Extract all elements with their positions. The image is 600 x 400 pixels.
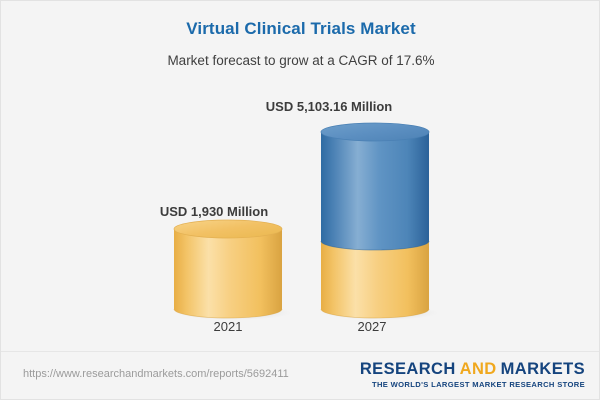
- report-url[interactable]: https://www.researchandmarkets.com/repor…: [23, 368, 289, 380]
- bar-cylinder-2027[interactable]: [315, 115, 439, 325]
- category-label-2021: 2021: [168, 319, 288, 334]
- logo-wordmark: RESEARCHANDMARKETS: [360, 360, 585, 378]
- logo-word-research: RESEARCH: [360, 360, 456, 378]
- plot-area: USD 1,930 Million USD 5,103.16 Million: [1, 1, 600, 353]
- research-and-markets-logo[interactable]: RESEARCHANDMARKETS THE WORLD'S LARGEST M…: [360, 360, 585, 389]
- bar-value-label-2027: USD 5,103.16 Million: [229, 99, 429, 114]
- footer: https://www.researchandmarkets.com/repor…: [1, 351, 600, 399]
- logo-word-markets: MARKETS: [501, 360, 585, 378]
- category-label-2027: 2027: [312, 319, 432, 334]
- logo-tagline: THE WORLD'S LARGEST MARKET RESEARCH STOR…: [360, 380, 585, 389]
- bar-cylinder-2021[interactable]: [168, 221, 292, 325]
- bar-value-label-2021: USD 1,930 Million: [114, 204, 314, 219]
- chart-image: Virtual Clinical Trials Market Market fo…: [0, 0, 600, 400]
- logo-word-and: AND: [460, 360, 497, 378]
